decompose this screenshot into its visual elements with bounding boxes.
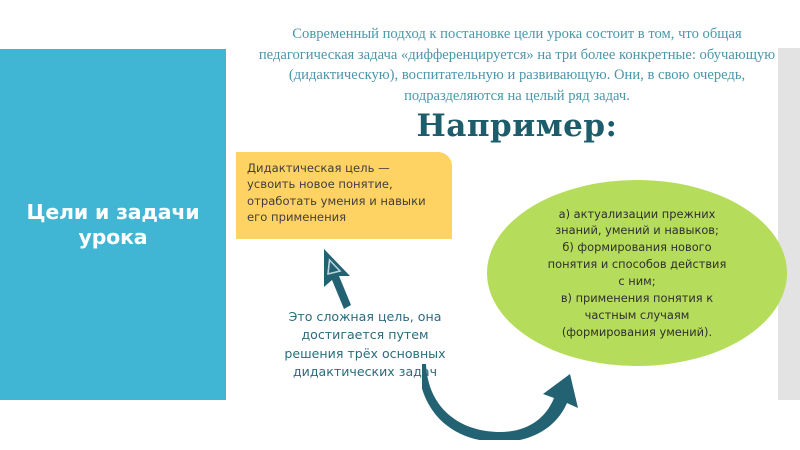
slide-title-panel: Цели и задачи урока	[0, 49, 226, 400]
tasks-ellipse-text: а) актуализации прежних знаний, умений и…	[528, 206, 747, 341]
arrow-curved-right-icon	[422, 358, 582, 440]
didactic-goal-callout: Дидактическая цель — усвоить новое понят…	[236, 152, 452, 239]
intro-paragraph: Современный подход к постановке цели уро…	[243, 24, 791, 107]
arrow-up-icon	[316, 243, 360, 313]
example-heading: Например:	[243, 108, 791, 144]
slide-canvas: Цели и задачи урока Современный подход к…	[0, 0, 800, 450]
didactic-goal-callout-text: Дидактическая цель — усвоить новое понят…	[247, 160, 442, 226]
tasks-ellipse: а) актуализации прежних знаний, умений и…	[487, 180, 787, 366]
page-title: Цели и задачи урока	[15, 200, 212, 250]
